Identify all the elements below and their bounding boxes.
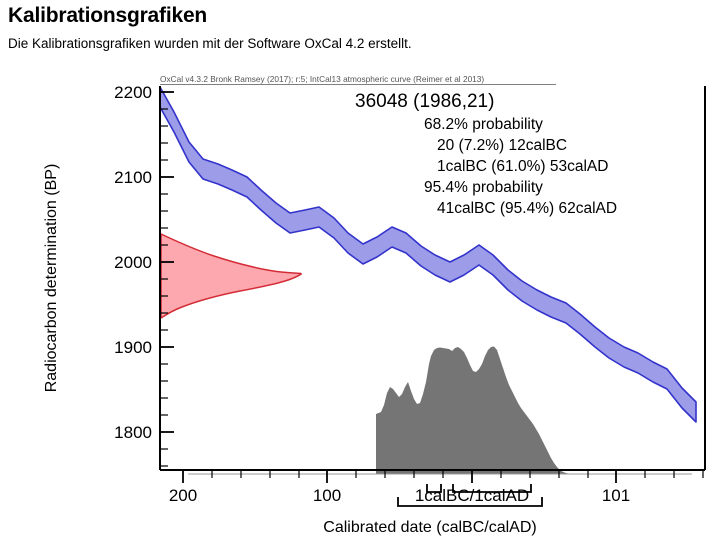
- x-tick-label-100: 100: [313, 486, 341, 505]
- y-tick-label-1800: 1800: [114, 423, 152, 442]
- calibration-chart: OxCal v4.3.2 Bronk Ramsey (2017); r:5; I…: [0, 60, 717, 539]
- x-axis-title: Calibrated date (calBC/calAD): [323, 519, 536, 536]
- sample-label: 36048 (1986,21): [355, 91, 494, 112]
- prob68-header: 68.2% probability: [424, 116, 543, 133]
- y-tick-label-1900: 1900: [114, 338, 152, 357]
- page-title: Kalibrationsgrafiken: [8, 4, 207, 28]
- x-tick-label-200: 200: [169, 486, 197, 505]
- page-subtitle: Die Kalibrationsgrafiken wurden mit der …: [8, 36, 412, 51]
- y-tick-label-2100: 2100: [114, 168, 152, 187]
- y-tick-label-2200: 2200: [114, 83, 152, 102]
- y-axis-title: Radiocarbon determination (BP): [43, 164, 60, 393]
- oxcal-credit: OxCal v4.3.2 Bronk Ramsey (2017); r:5; I…: [160, 74, 484, 84]
- prob95-header: 95.4% probability: [424, 179, 543, 196]
- page-root: Kalibrationsgrafiken Die Kalibrationsgra…: [0, 0, 717, 539]
- chart-svg: OxCal v4.3.2 Bronk Ramsey (2017); r:5; I…: [0, 60, 717, 539]
- y-tick-label-2000: 2000: [114, 253, 152, 272]
- x-axis-ticks: [183, 470, 703, 483]
- prob68-range-2: 1calBC (61.0%) 53calAD: [437, 158, 608, 175]
- x-tick-label-1calBC-1calAD: 1calBC/1calAD: [415, 486, 529, 505]
- x-tick-label-101: 101: [602, 486, 630, 505]
- prob95-range-1: 41calBC (95.4%) 62calAD: [437, 200, 617, 217]
- prob68-range-1: 20 (7.2%) 12calBC: [437, 137, 567, 154]
